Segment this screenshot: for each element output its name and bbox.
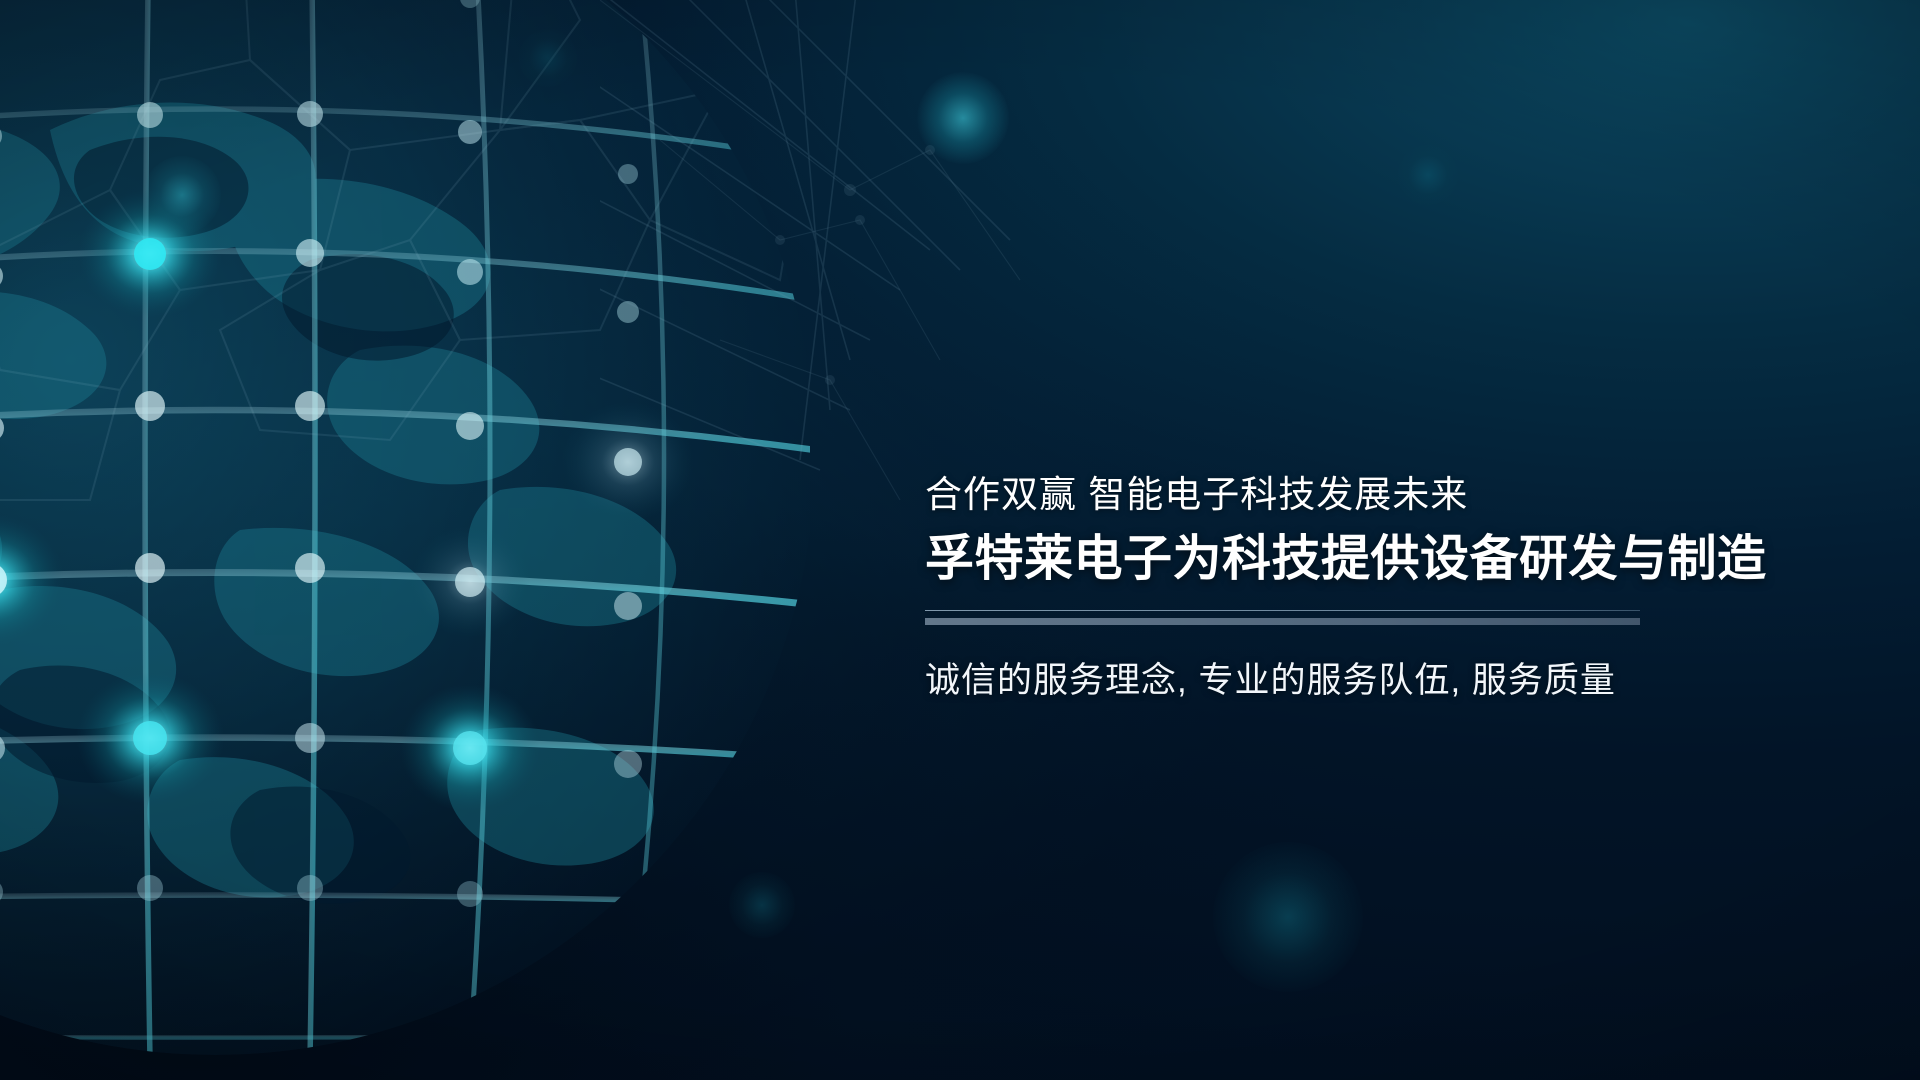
divider-thick-bar [925, 618, 1640, 625]
banner-tagline: 诚信的服务理念, 专业的服务队伍, 服务质量 [925, 663, 1825, 698]
banner-eyebrow: 合作双赢 智能电子科技发展未来 [925, 476, 1825, 513]
banner-headline: 孚特莱电子为科技提供设备研发与制造 [925, 535, 1825, 584]
banner-text-block: 合作双赢 智能电子科技发展未来 孚特莱电子为科技提供设备研发与制造 诚信的服务理… [925, 476, 1825, 698]
divider-thin-line [925, 610, 1640, 611]
hero-banner: 合作双赢 智能电子科技发展未来 孚特莱电子为科技提供设备研发与制造 诚信的服务理… [0, 0, 1920, 1080]
divider-rule [925, 610, 1640, 625]
